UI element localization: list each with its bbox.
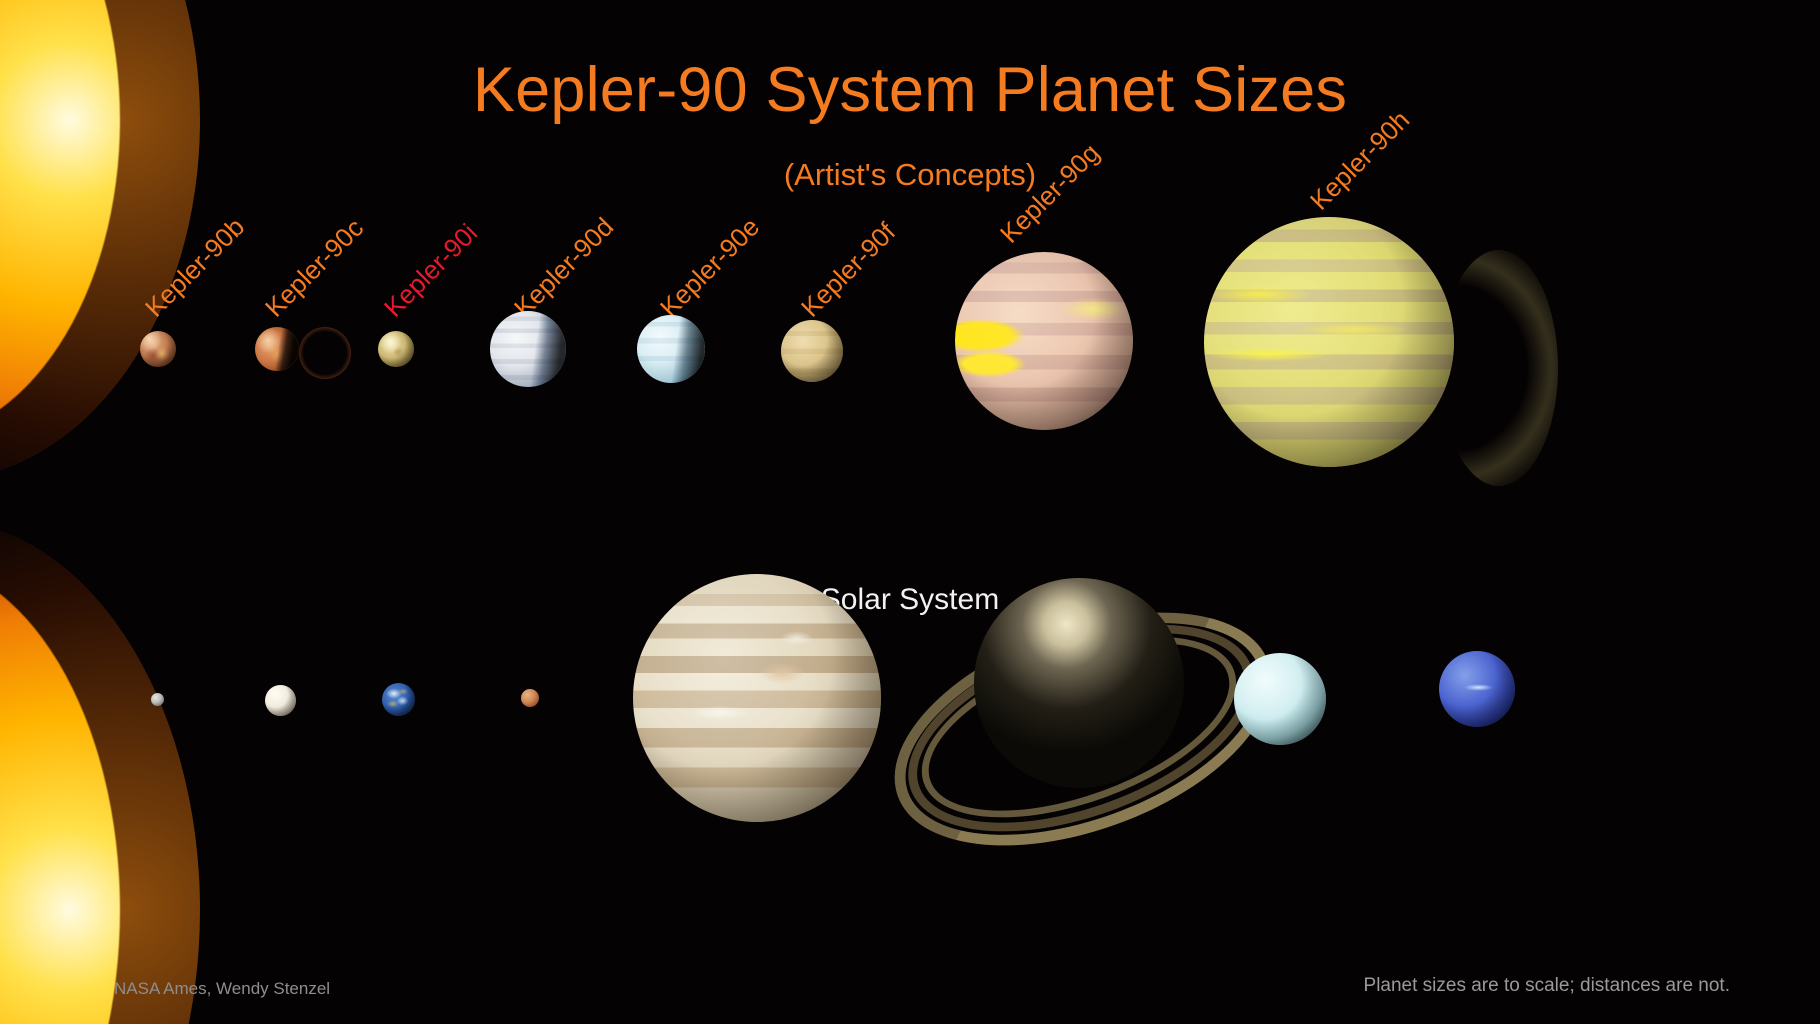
planet-kepler-90b [140,331,176,367]
planet-jupiter [633,574,881,822]
planet-label-kepler-90d: Kepler-90d [508,212,620,324]
planet-venus [265,685,296,716]
planet-label-kepler-90f: Kepler-90f [795,217,902,324]
planet-kepler-90d [490,311,566,387]
planet-kepler-90e [637,315,705,383]
planet-mars [521,689,539,707]
planet-kepler-90i [378,331,414,367]
scale-note: Planet sizes are to scale; distances are… [1364,975,1730,997]
planet-halo-kepler-90c [299,327,351,379]
planet-kepler-90c [255,327,299,371]
planet-mercury [151,693,164,706]
planet-earth [382,683,415,716]
planet-kepler-90f [781,320,843,382]
planet-label-kepler-90c: Kepler-90c [259,213,370,324]
planet-uranus [1234,653,1326,745]
planet-kepler-90g [955,252,1133,430]
planet-saturn [878,560,1268,820]
planet-label-kepler-90g: Kepler-90g [994,138,1106,250]
planet-kepler-90h [1204,217,1454,467]
planet-neptune [1439,651,1515,727]
planet-label-kepler-90i: Kepler-90i [378,218,484,324]
credit-text: NASA Ames, Wendy Stenzel [114,979,330,999]
planet-label-kepler-90e: Kepler-90e [654,212,766,324]
infographic-canvas: Kepler-90 System Planet Sizes (Artist's … [0,0,1820,1024]
page-title: Kepler-90 System Planet Sizes [0,54,1820,126]
planet-ring-arc-kepler-90h [1440,250,1558,486]
page-subtitle: (Artist's Concepts) [0,157,1820,193]
